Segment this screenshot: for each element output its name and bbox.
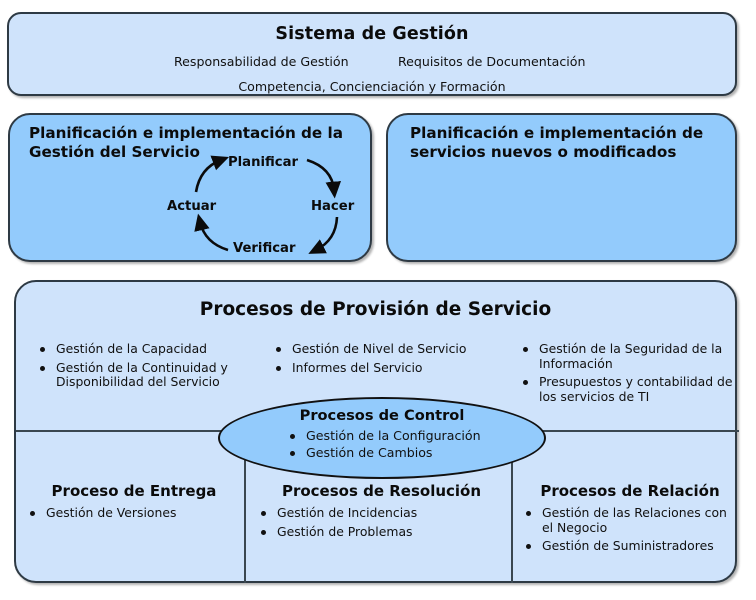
list-item: Gestión de Cambios xyxy=(288,446,518,461)
proceso-entrega-title: Proceso de Entrega xyxy=(28,482,240,500)
proceso-entrega-list: Gestión de Versiones xyxy=(28,506,240,521)
procesos-resolucion-list: Gestión de Incidencias Gestión de Proble… xyxy=(259,506,504,539)
arrow-planificar-hacer xyxy=(307,160,334,190)
provision-column-1-list: Gestión de la Capacidad Gestión de la Co… xyxy=(38,342,256,390)
list-item: Gestión de la Configuración xyxy=(288,429,518,444)
procesos-relacion-column: Procesos de Relación Gestión de las Rela… xyxy=(524,482,736,558)
provision-column-2: Gestión de Nivel de Servicio Informes de… xyxy=(274,342,494,379)
procesos-relacion-list: Gestión de las Relaciones con el Negocio… xyxy=(524,506,736,554)
provision-column-3: Gestión de la Seguridad de la Informació… xyxy=(521,342,736,408)
procesos-resolucion-column: Procesos de Resolución Gestión de Incide… xyxy=(259,482,504,543)
diagram-canvas: Sistema de Gestión Responsabilidad de Ge… xyxy=(0,0,756,600)
list-item: Gestión de Suministradores xyxy=(524,539,736,554)
list-item: Gestión de la Capacidad xyxy=(38,342,256,357)
procesos-de-control-title: Procesos de Control xyxy=(220,407,544,424)
list-item: Presupuestos y contabilidad de los servi… xyxy=(521,375,736,404)
planificacion-servicios-nuevos-title: Planificación e implementación de servic… xyxy=(410,124,720,162)
list-item: Gestión de la Continuidad y Disponibilid… xyxy=(38,361,256,390)
procesos-de-control-list: Gestión de la Configuración Gestión de C… xyxy=(288,429,518,462)
list-item: Gestión de las Relaciones con el Negocio xyxy=(524,506,736,535)
provision-column-2-list: Gestión de Nivel de Servicio Informes de… xyxy=(274,342,494,375)
provision-column-3-list: Gestión de la Seguridad de la Informació… xyxy=(521,342,736,404)
provision-column-1: Gestión de la Capacidad Gestión de la Co… xyxy=(38,342,256,394)
list-item: Gestión de Nivel de Servicio xyxy=(274,342,494,357)
list-item: Gestión de Versiones xyxy=(28,506,240,521)
procesos-provision-servicio-title: Procesos de Provisión de Servicio xyxy=(16,299,735,320)
arrow-actuar-planificar xyxy=(196,160,221,192)
planificacion-servicios-nuevos-box: Planificación e implementación de servic… xyxy=(386,113,737,262)
procesos-de-control-ellipse: Procesos de Control Gestión de la Config… xyxy=(218,397,546,479)
procesos-relacion-title: Procesos de Relación xyxy=(524,482,736,500)
list-item: Gestión de Incidencias xyxy=(259,506,504,521)
proceso-entrega-column: Proceso de Entrega Gestión de Versiones xyxy=(28,482,240,525)
arrow-verificar-actuar xyxy=(200,222,228,250)
procesos-resolucion-title: Procesos de Resolución xyxy=(259,482,504,500)
list-item: Gestión de la Seguridad de la Informació… xyxy=(521,342,736,371)
arrow-hacer-verificar xyxy=(316,217,337,250)
list-item: Informes del Servicio xyxy=(274,361,494,376)
list-item: Gestión de Problemas xyxy=(259,525,504,540)
